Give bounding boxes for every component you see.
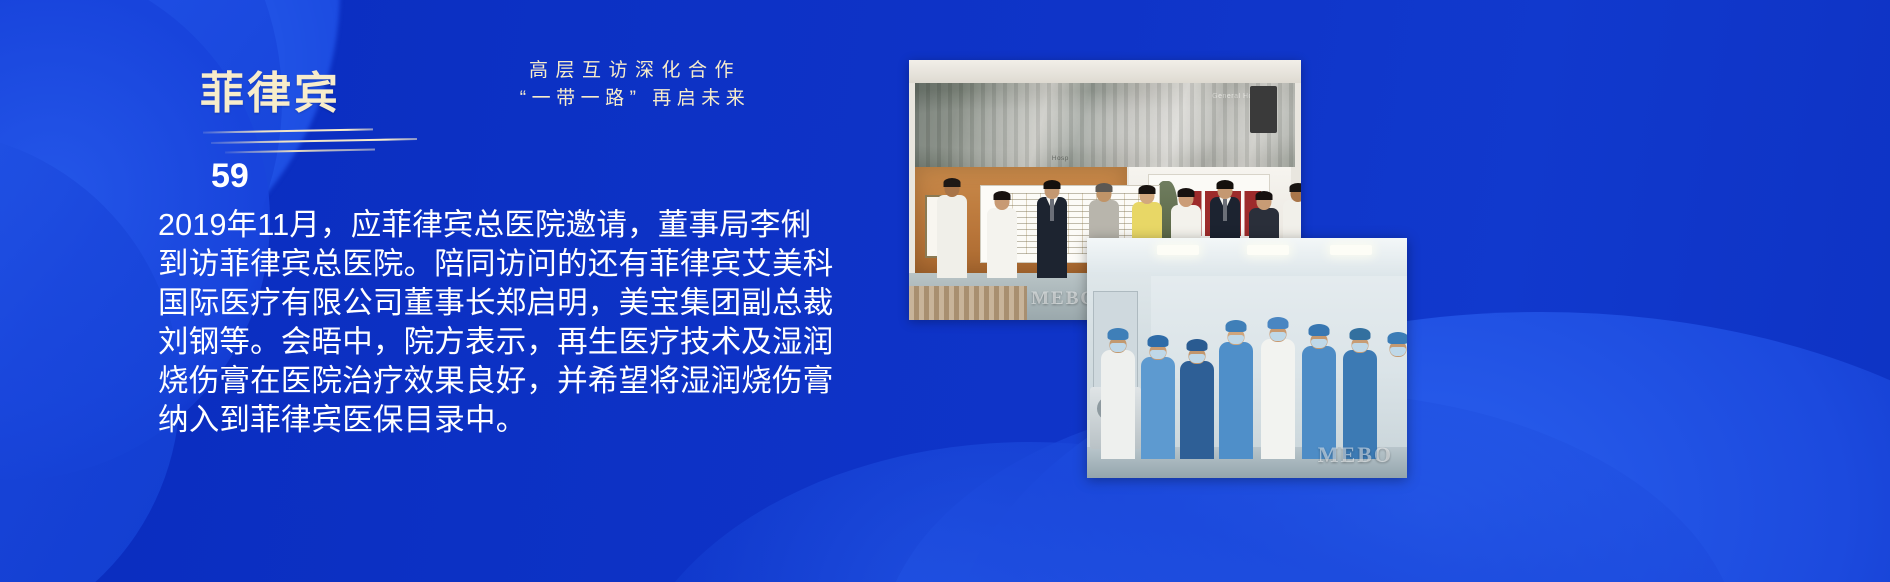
person-hair: [1043, 180, 1060, 189]
staff-gown: [1141, 357, 1175, 459]
staff-surgical-cap: [1267, 317, 1288, 329]
staff-figure: [1141, 335, 1175, 459]
staff-figure: [1180, 339, 1214, 459]
scene-speaker: [1250, 86, 1277, 133]
rule-line-1: [203, 128, 373, 133]
staff-surgical-cap: [1107, 328, 1128, 340]
staff-gown: [1381, 354, 1407, 459]
staff-figure: [1218, 320, 1254, 459]
photo-medical-staff-group: MEBO: [1087, 238, 1407, 478]
item-number: 59: [211, 159, 249, 193]
person-tie: [1050, 199, 1054, 221]
staff-mask: [1189, 354, 1205, 363]
person-torso: [987, 208, 1017, 279]
staff-gown: [1101, 350, 1135, 459]
headline-line-1: 高层互访深化合作: [455, 58, 815, 84]
ceiling-light-3: [1330, 245, 1372, 255]
staff-surgical-cap: [1186, 339, 1207, 351]
person-figure: [987, 193, 1017, 279]
staff-gown: [1219, 342, 1253, 459]
staff-surgical-cap: [1226, 320, 1247, 332]
scene-rug: [909, 286, 1027, 320]
person-hair: [1138, 185, 1155, 194]
person-hair: [1178, 188, 1195, 197]
staff-mask: [1352, 343, 1368, 352]
staff-gown: [1180, 361, 1214, 459]
staff-mask: [1110, 343, 1126, 352]
person-hair: [944, 178, 961, 187]
person-hair: [1255, 191, 1272, 200]
ceiling-light-2: [1247, 245, 1289, 255]
staff-figure: [1100, 328, 1136, 459]
person-figure: [935, 180, 969, 279]
staff-figure: [1343, 328, 1377, 459]
staff-gown: [1261, 339, 1295, 459]
scene-ceiling: [909, 60, 1301, 83]
staff-mask: [1390, 347, 1406, 356]
rule-line-2: [211, 138, 417, 144]
rule-line-3: [225, 149, 375, 154]
title-block: 菲律宾: [200, 72, 418, 160]
staff-gown: [1343, 350, 1377, 459]
person-figure: [1035, 182, 1069, 278]
person-hair: [994, 191, 1011, 200]
staff-figure: [1301, 324, 1337, 459]
page-title: 菲律宾: [200, 72, 418, 116]
staff-mask: [1270, 332, 1286, 341]
person-hair: [1217, 180, 1234, 189]
staff-mask: [1311, 339, 1327, 348]
headline-block: 高层互访深化合作 “一带一路” 再启未来: [455, 58, 815, 112]
staff-surgical-cap: [1350, 328, 1371, 340]
slide-canvas: 菲律宾 59 2019年11月，应菲律宾总医院邀请，董事局李俐 到访菲律宾总医院…: [0, 0, 1890, 582]
photo-staff-group: [1087, 272, 1407, 459]
staff-gown: [1302, 346, 1336, 459]
person-hair: [1289, 183, 1301, 192]
person-tie: [1223, 199, 1227, 221]
headline-line-2: “一带一路” 再启未来: [455, 86, 815, 112]
person-torso: [937, 195, 967, 279]
body-paragraph: 2019年11月，应菲律宾总医院邀请，董事局李俐 到访菲律宾总医院。陪同访问的还…: [158, 206, 858, 440]
ceiling-light-1: [1157, 245, 1199, 255]
staff-figure: [1260, 317, 1296, 459]
staff-figure: [1381, 332, 1407, 459]
decorative-rules: [203, 128, 418, 160]
staff-mask: [1228, 335, 1244, 344]
person-hair: [1095, 183, 1112, 192]
staff-mask: [1150, 350, 1166, 359]
photo-scene-corridor: [1087, 238, 1407, 478]
staff-surgical-cap: [1148, 335, 1169, 347]
staff-surgical-cap: [1388, 332, 1407, 344]
staff-surgical-cap: [1309, 324, 1330, 336]
